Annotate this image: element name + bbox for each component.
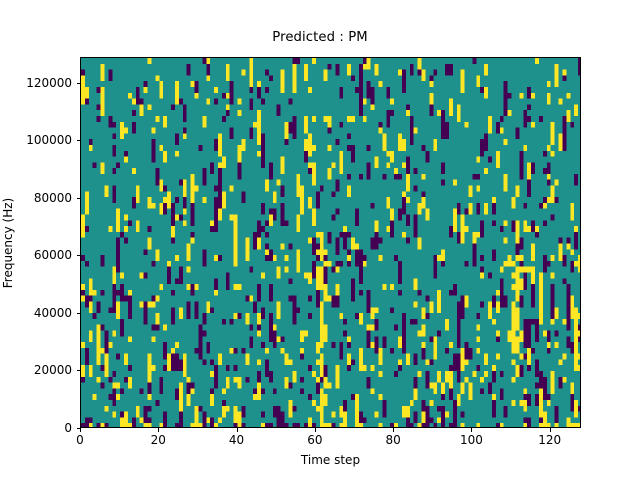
y-tick-label-text: 60000	[34, 248, 72, 262]
x-tick-mark	[393, 428, 394, 432]
y-tick-label-text: 0	[64, 421, 72, 435]
x-tick-label: 100	[460, 433, 483, 447]
matplotlib-figure: Predicted : PM 020406080100120 020000400…	[0, 0, 640, 480]
y-tick-label-text: 20000	[34, 363, 72, 377]
heatmap-image	[81, 58, 581, 428]
y-tick-label: 20000	[72, 363, 110, 377]
y-tick-label: 40000	[72, 306, 110, 320]
x-tick-mark	[550, 428, 551, 432]
y-axis-label: Frequency (Hz)	[0, 57, 16, 428]
x-tick-mark	[237, 428, 238, 432]
x-tick-label: 20	[151, 433, 166, 447]
x-tick-label: 120	[538, 433, 561, 447]
x-tick-label: 40	[229, 433, 244, 447]
x-tick-label: 60	[307, 433, 322, 447]
page-title: Predicted : PM	[0, 30, 640, 45]
x-tick-label: 0	[76, 433, 84, 447]
y-tick-label: 0	[72, 421, 80, 435]
y-tick-label-text: 80000	[34, 191, 72, 205]
x-tick-label: 80	[385, 433, 400, 447]
x-tick-mark	[471, 428, 472, 432]
x-tick-mark	[158, 428, 159, 432]
x-tick-mark	[80, 428, 81, 432]
y-tick-label: 100000	[72, 133, 118, 147]
y-tick-label-text: 40000	[34, 306, 72, 320]
x-axis-label: Time step	[80, 453, 581, 467]
y-tick-label: 120000	[72, 76, 118, 90]
y-axis-label-text: Frequency (Hz)	[1, 197, 15, 288]
y-tick-label: 80000	[72, 191, 110, 205]
y-tick-label-text: 120000	[26, 76, 72, 90]
y-tick-label: 60000	[72, 248, 110, 262]
y-tick-label-text: 100000	[26, 133, 72, 147]
heatmap-axes	[80, 57, 581, 428]
x-tick-mark	[315, 428, 316, 432]
